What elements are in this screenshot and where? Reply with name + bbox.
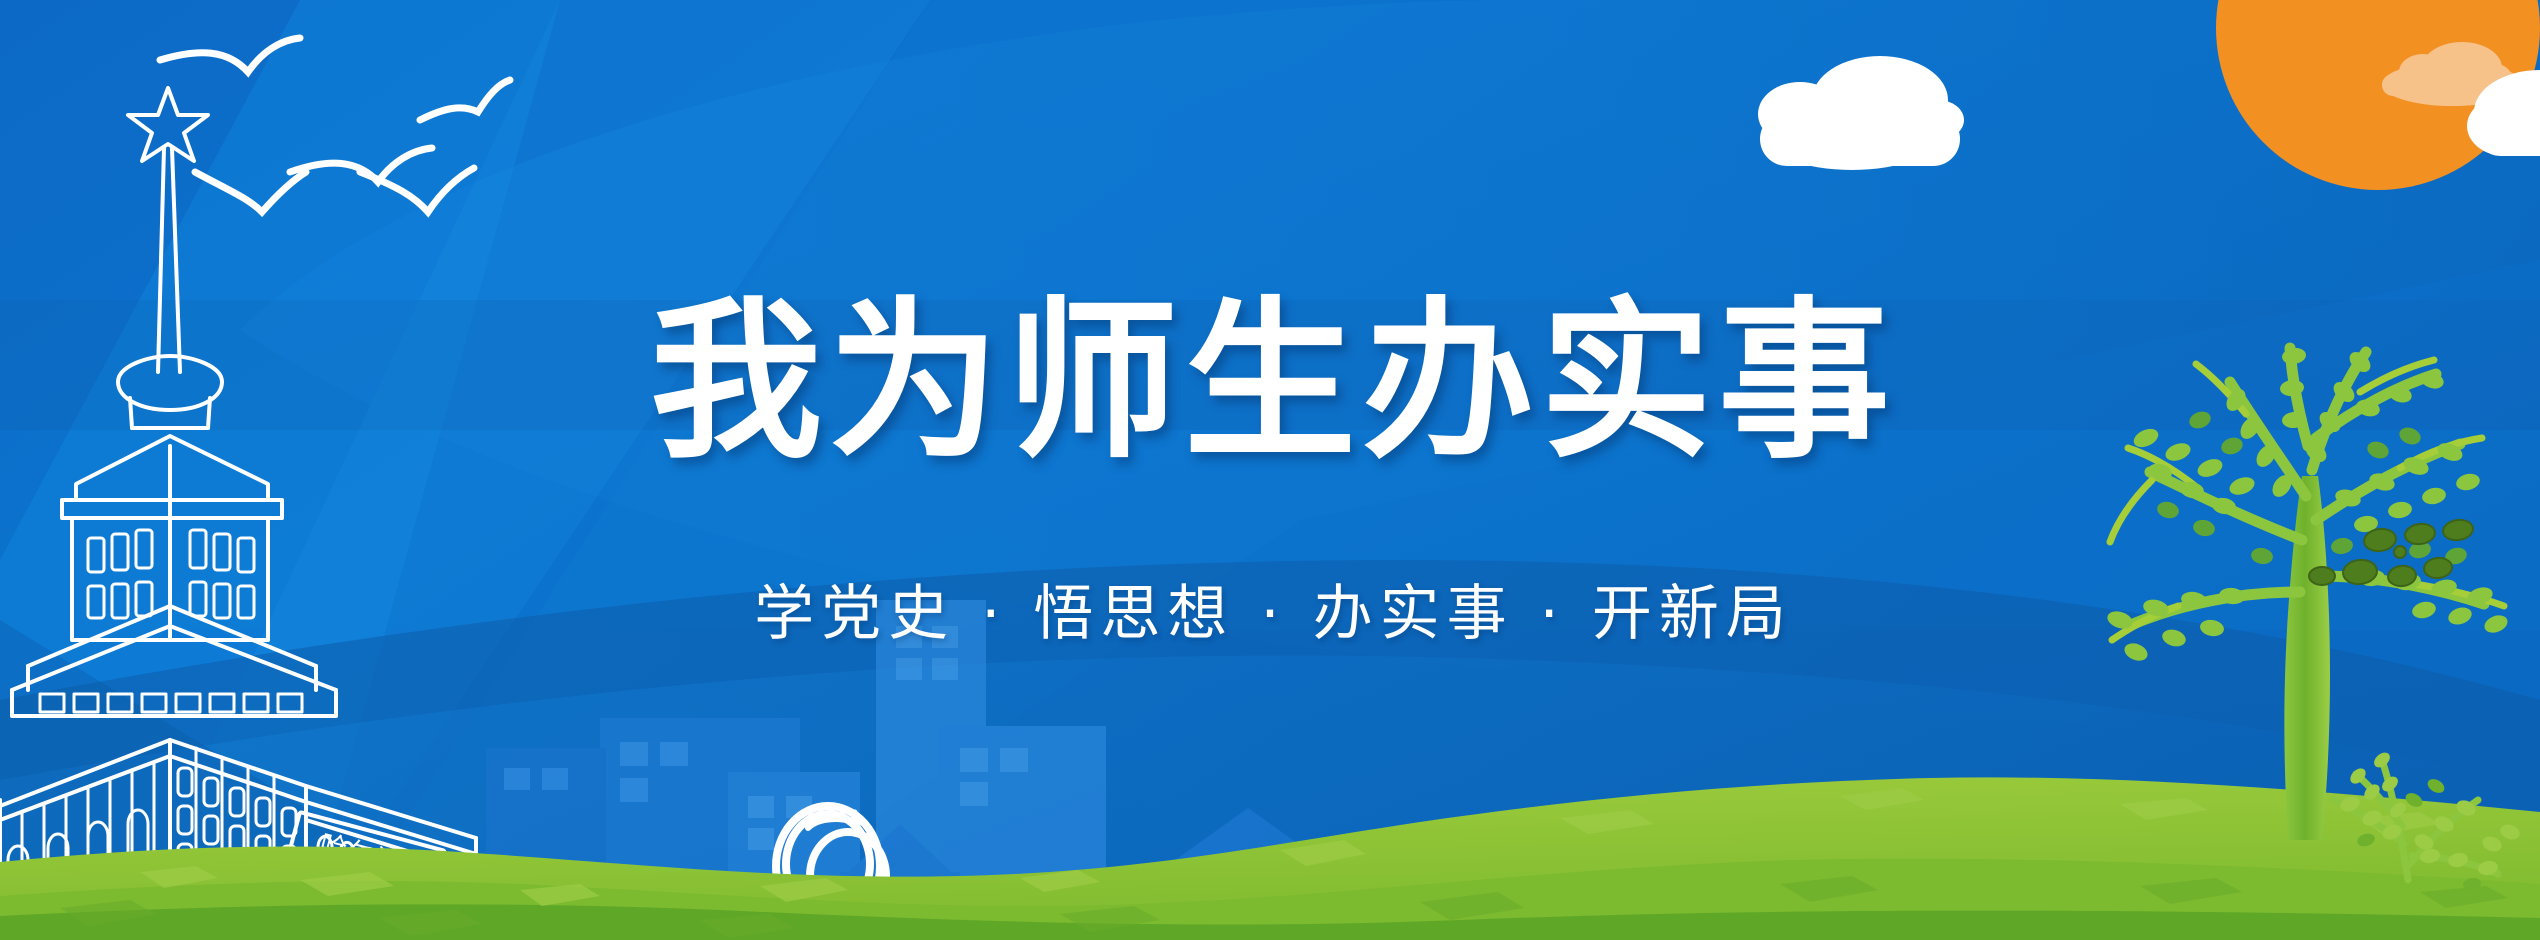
green-tree bbox=[0, 0, 2540, 940]
banner-root: 哈尔滨工业大学 bbox=[0, 0, 2540, 940]
green-shrub bbox=[2332, 750, 2522, 892]
